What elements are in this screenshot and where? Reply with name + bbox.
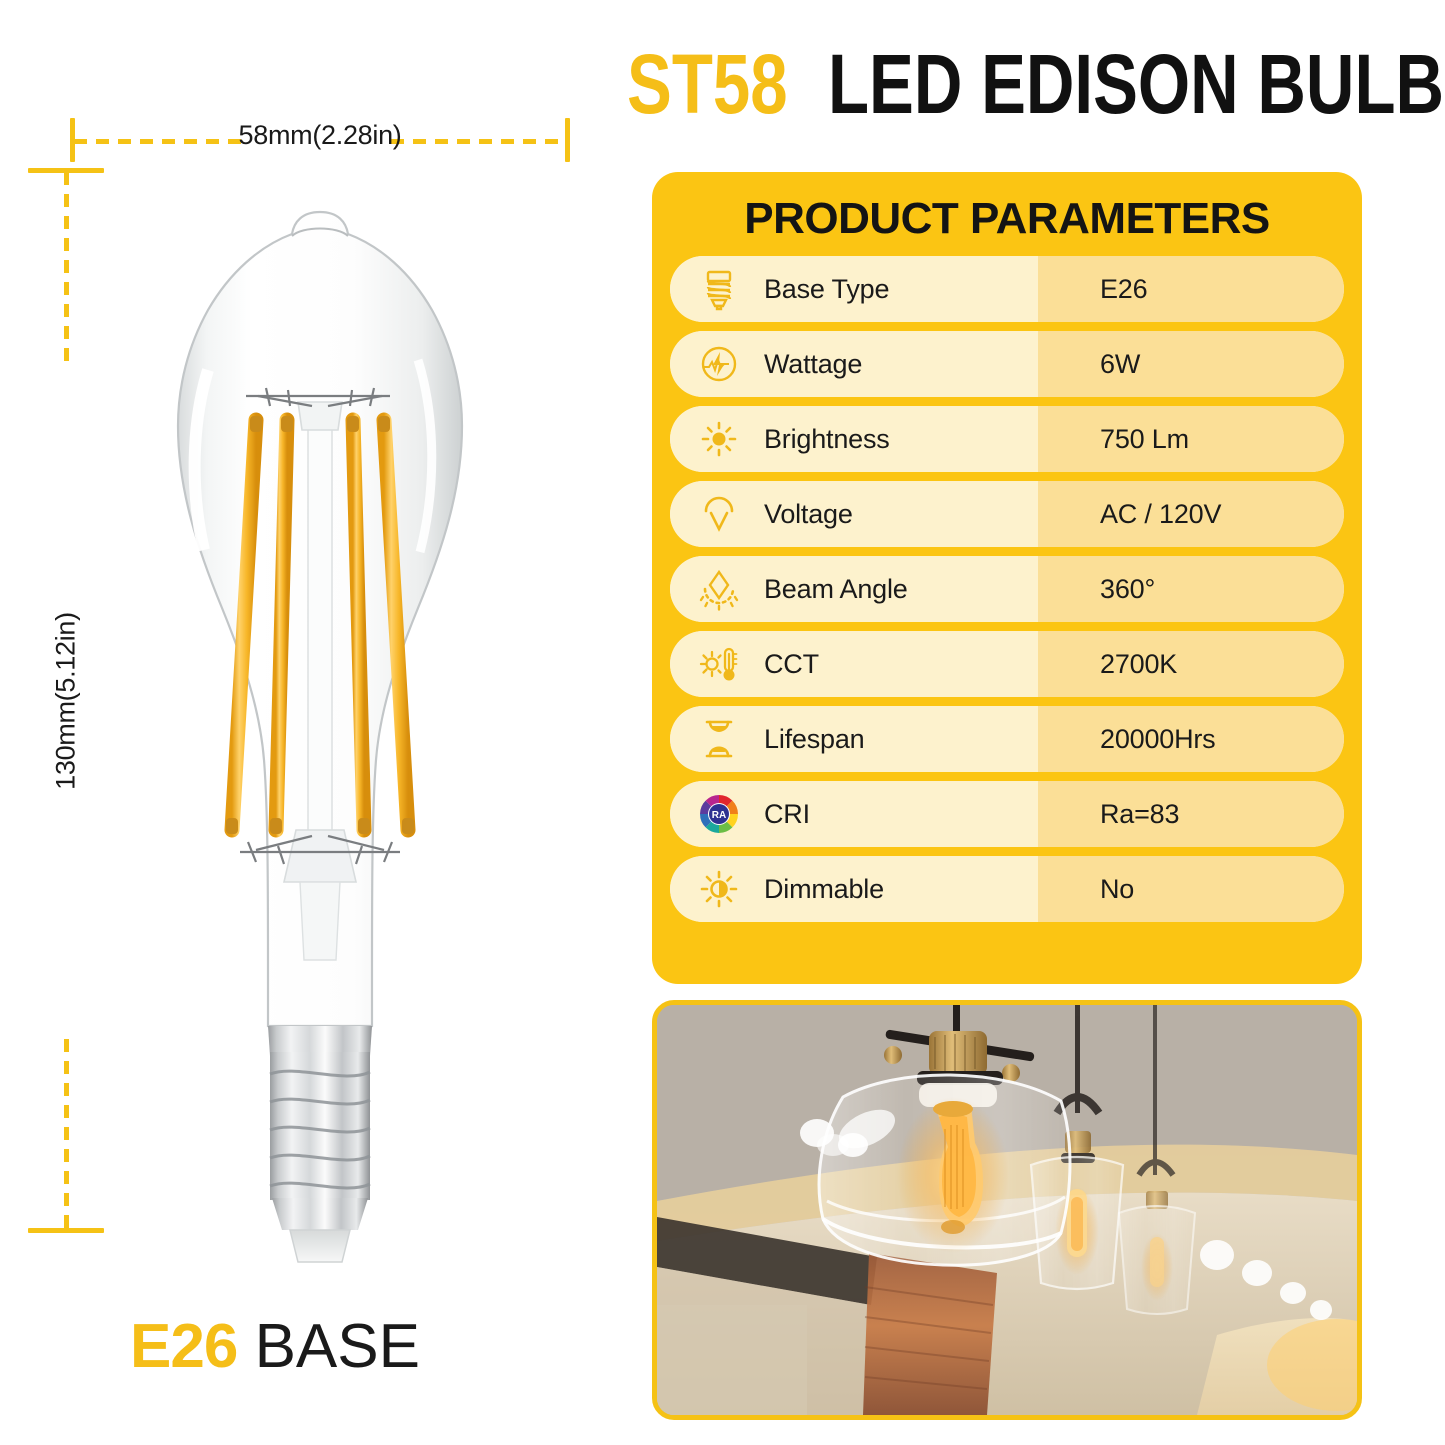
color-wheel-ra-icon: RA [688, 792, 750, 836]
parameter-label: Beam Angle [764, 574, 908, 605]
parameter-value: AC / 120V [1100, 499, 1221, 530]
bulb-diagram-column: 58mm(2.28in) 130mm(5.12in) [0, 0, 630, 1445]
row-value-side: No [1038, 856, 1344, 922]
parameter-value: 6W [1100, 349, 1140, 380]
row-label-side: Dimmable [670, 856, 1038, 922]
height-dash-bottom [64, 1039, 69, 1229]
row-label-side: Brightness [670, 406, 1038, 472]
row-label-side: Voltage [670, 481, 1038, 547]
bulb-illustration [80, 190, 560, 1270]
color-wheel: RA [697, 792, 741, 836]
row-value-side: E26 [1038, 256, 1344, 322]
row-label-side: Wattage [670, 331, 1038, 397]
width-dimension-label: 58mm(2.28in) [70, 120, 570, 151]
parameter-value: E26 [1100, 274, 1147, 305]
product-infographic: 58mm(2.28in) 130mm(5.12in) [0, 0, 1445, 1445]
half-sun-icon [688, 868, 750, 910]
height-dash-top [64, 172, 69, 362]
thermometer-sun-icon [688, 642, 750, 686]
pendant-lamps-scene [657, 1005, 1357, 1415]
parameter-label: Brightness [764, 424, 890, 455]
parameter-value: 20000Hrs [1100, 724, 1215, 755]
bulb-svg [80, 190, 560, 1270]
title-model: ST58 [627, 38, 788, 130]
voltage-arc-icon [688, 493, 750, 535]
base-collar [268, 1026, 372, 1056]
row-value-side: 20000Hrs [1038, 706, 1344, 772]
table-row: Dimmable No [670, 856, 1344, 922]
height-dimension-label: 130mm(5.12in) [51, 612, 82, 790]
stem-base-flare [284, 830, 356, 882]
base-caption-code: E26 [130, 1312, 237, 1381]
parameter-label: Dimmable [764, 874, 884, 905]
row-label-side: Lifespan [670, 706, 1038, 772]
parameters-rows: Base Type E26 Wattage [652, 256, 1362, 945]
width-dimension: 58mm(2.28in) [70, 118, 570, 162]
row-value-side: 750 Lm [1038, 406, 1344, 472]
parameter-label: Lifespan [764, 724, 864, 755]
row-value-side: Ra=83 [1038, 781, 1344, 847]
row-value-side: 6W [1038, 331, 1344, 397]
svg-text:RA: RA [712, 810, 726, 821]
row-value-side: 360° [1038, 556, 1344, 622]
parameter-value: Ra=83 [1100, 799, 1179, 830]
title-rest: LED EDISON BULB [828, 38, 1444, 130]
e26-screw-base [268, 1026, 372, 1262]
base-caption-word: BASE [255, 1312, 420, 1381]
base-shoulder [272, 1198, 368, 1230]
parameter-label: Wattage [764, 349, 862, 380]
parameter-label: Base Type [764, 274, 889, 305]
parameter-value: No [1100, 874, 1134, 905]
table-row: Lifespan 20000Hrs [670, 706, 1344, 772]
lightning-bolt-icon [688, 343, 750, 385]
parameter-value: 360° [1100, 574, 1155, 605]
product-parameters-panel: PRODUCT PARAMETERS Base Type [652, 172, 1362, 984]
screw-base-icon [688, 267, 750, 311]
parameter-value: 2700K [1100, 649, 1177, 680]
table-row: RA CRI Ra=83 [670, 781, 1344, 847]
base-contact-tip [290, 1230, 350, 1262]
table-row: Brightness 750 Lm [670, 406, 1344, 472]
table-row: Beam Angle 360° [670, 556, 1344, 622]
base-caption: E26 BASE [130, 1316, 550, 1378]
parameter-label: CCT [764, 649, 819, 680]
row-label-side: RA CRI [670, 781, 1038, 847]
row-value-side: 2700K [1038, 631, 1344, 697]
beam-angle-icon [688, 567, 750, 611]
hourglass-icon [688, 717, 750, 761]
row-label-side: Base Type [670, 256, 1038, 322]
table-row: Base Type E26 [670, 256, 1344, 322]
stem-top-collar [298, 402, 342, 430]
parameter-label: CRI [764, 799, 810, 830]
parameters-heading: PRODUCT PARAMETERS [652, 172, 1362, 256]
table-row: CCT 2700K [670, 631, 1344, 697]
parameter-label: Voltage [764, 499, 853, 530]
lifestyle-photo [652, 1000, 1362, 1420]
table-row: Wattage 6W [670, 331, 1344, 397]
page-title: ST58LED EDISON BULB [627, 38, 1427, 128]
stem-lower [300, 882, 340, 960]
glass-stem [308, 420, 332, 840]
row-label-side: CCT [670, 631, 1038, 697]
parameter-value: 750 Lm [1100, 424, 1189, 455]
sun-rays-icon [688, 418, 750, 460]
row-label-side: Beam Angle [670, 556, 1038, 622]
table-row: Voltage AC / 120V [670, 481, 1344, 547]
row-value-side: AC / 120V [1038, 481, 1344, 547]
